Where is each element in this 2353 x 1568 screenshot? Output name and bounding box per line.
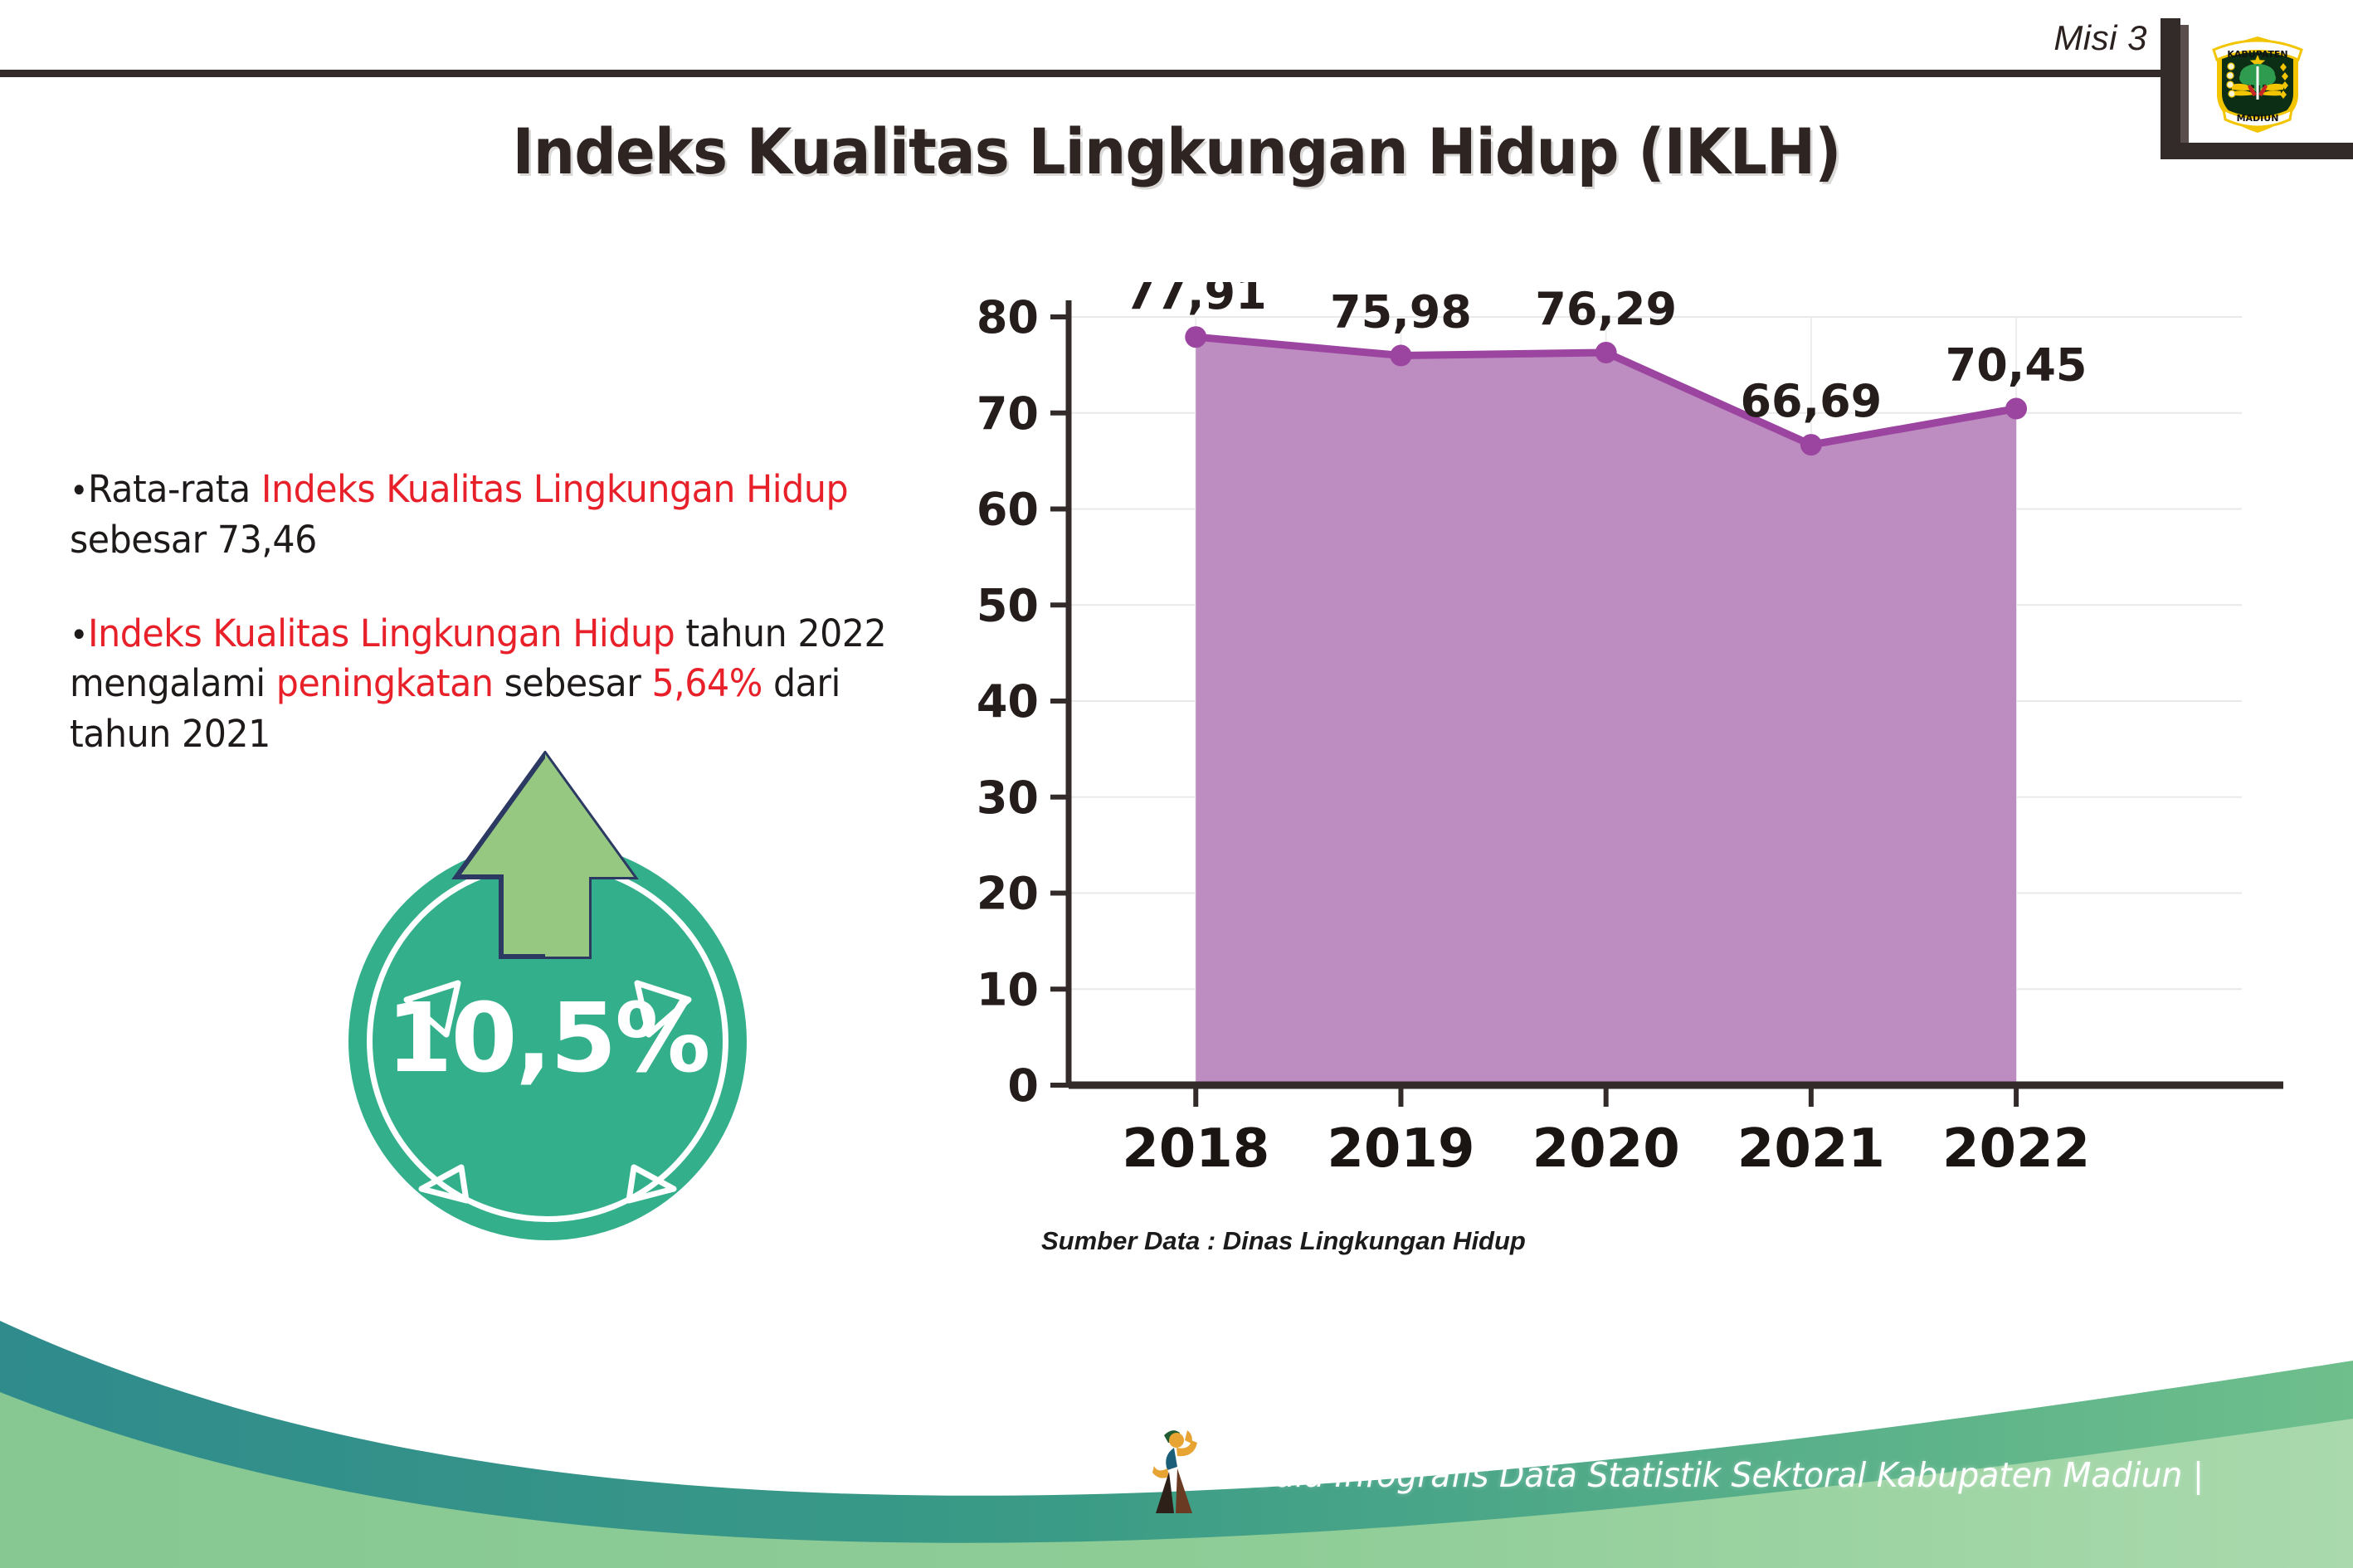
svg-text:2018: 2018 [1122, 1118, 1269, 1180]
bullet-text-highlight: Indeks Kualitas Lingkungan Hidup [88, 611, 675, 655]
badge-value: 10,5% [348, 983, 747, 1094]
chart-canvas: 77,9175,9876,2966,6970,45010203040506070… [962, 282, 2290, 1261]
svg-text:80: 80 [977, 291, 1039, 343]
iklh-area-chart: 77,9175,9876,2966,6970,45010203040506070… [962, 282, 2290, 1294]
bullet-text-plain: Rata-rata [88, 467, 261, 511]
svg-text:30: 30 [977, 772, 1039, 824]
increase-badge: 10,5% [324, 751, 772, 1215]
svg-text:70: 70 [977, 387, 1039, 440]
svg-text:76,29: 76,29 [1535, 283, 1677, 335]
svg-text:77,91: 77,91 [1125, 282, 1267, 319]
svg-text:0: 0 [1007, 1059, 1039, 1112]
bullet-text-highlight-3: 5,64% [651, 661, 762, 705]
bullet-text-plain-2: sebesar [493, 661, 651, 705]
bullet-text-plain-2: sebesar 73,46 [70, 518, 317, 562]
svg-text:40: 40 [977, 675, 1039, 728]
svg-text:2020: 2020 [1532, 1118, 1680, 1180]
svg-text:10: 10 [977, 963, 1039, 1015]
svg-text:2022: 2022 [1942, 1118, 2090, 1180]
svg-text:66,69: 66,69 [1740, 375, 1882, 427]
bullet-marker: • [70, 616, 88, 655]
bullet-text-highlight-2: peningkatan [276, 661, 494, 705]
bullet-average: •Rata-rata Indeks Kualitas Lingkungan Hi… [70, 465, 929, 566]
footer-text: Media Infografis Data Statistik Sektoral… [1226, 1455, 2204, 1495]
bullet-text-highlight: Indeks Kualitas Lingkungan Hidup [261, 467, 848, 511]
svg-text:60: 60 [977, 484, 1039, 536]
svg-text:70,45: 70,45 [1946, 339, 2087, 392]
svg-text:50: 50 [977, 579, 1039, 631]
bullet-marker: • [70, 472, 88, 510]
misi-label: Misi 3 [2053, 18, 2147, 58]
media-infografis-logo-icon [1149, 1420, 1217, 1520]
header-rule [0, 70, 2167, 77]
svg-text:20: 20 [977, 868, 1039, 920]
svg-text:2019: 2019 [1327, 1118, 1474, 1180]
svg-text:2021: 2021 [1737, 1118, 1885, 1180]
svg-text:75,98: 75,98 [1330, 286, 1472, 338]
page-title: Indeks Kualitas Lingkungan Hidup (IKLH) [82, 114, 2270, 188]
bullet-change: •Indeks Kualitas Lingkungan Hidup tahun … [70, 609, 929, 760]
chart-source-note: Sumber Data : Dinas Lingkungan Hidup [1041, 1226, 1526, 1256]
